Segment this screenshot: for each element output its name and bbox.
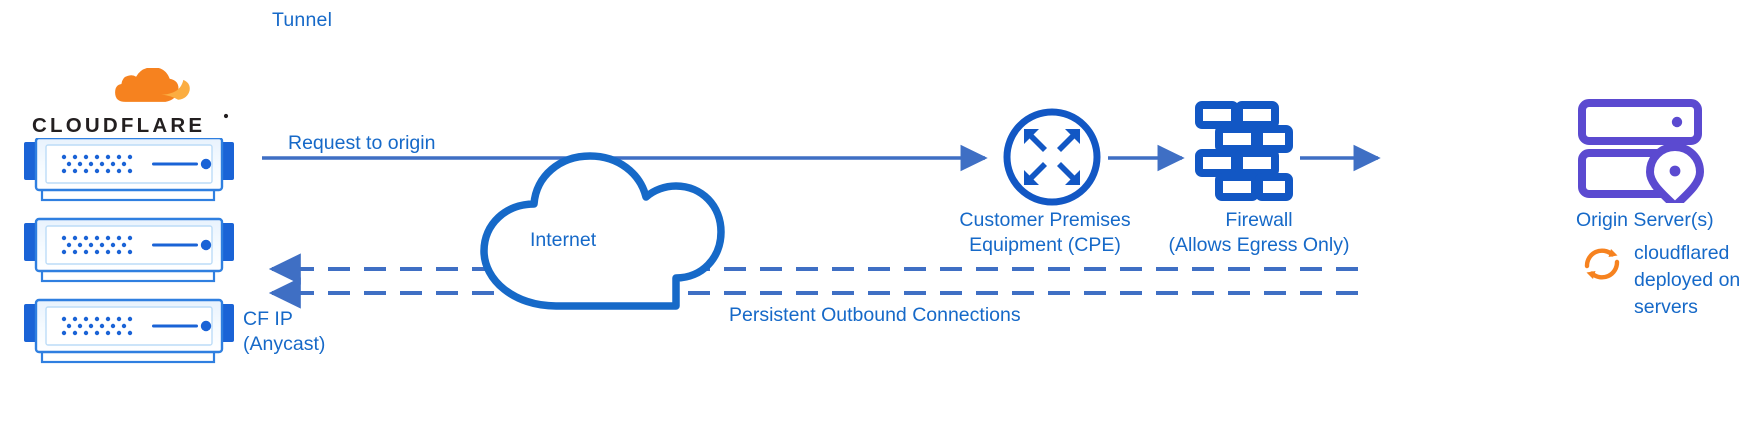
origin-server-label: Origin Server(s) [1576, 208, 1714, 233]
server-location-pin-icon [1578, 98, 1708, 203]
firewall-label: Firewall (Allows Egress Only) [1160, 208, 1358, 258]
cloudflared-note-line3: servers [1634, 294, 1754, 321]
cloudflared-note: cloudflared deployed on servers [1634, 240, 1754, 321]
internet-label: Internet [530, 228, 596, 253]
cpe-label: Customer Premises Equipment (CPE) [947, 208, 1143, 258]
cf-ip-anycast-label: CF IP (Anycast) [243, 307, 393, 357]
firewall-label-line1: Firewall [1160, 208, 1358, 233]
persistent-connections-label: Persistent Outbound Connections [729, 303, 1021, 328]
cf-ip-label-line1: CF IP [243, 307, 393, 332]
cloudflared-note-line2: deployed on [1634, 267, 1754, 294]
converging-arrows-icon [1000, 105, 1104, 209]
brick-wall-icon [1194, 100, 1294, 204]
cpe-label-line1: Customer Premises [947, 208, 1143, 233]
sync-arrows-icon [1578, 240, 1626, 288]
request-to-origin-label: Request to origin [288, 131, 435, 156]
cpe-label-line2: Equipment (CPE) [947, 233, 1143, 258]
cf-ip-label-line2: (Anycast) [243, 332, 393, 357]
connection-lines [0, 0, 1754, 422]
tunnel-diagram-canvas: Tunnel CLOUDFLARE [0, 0, 1754, 422]
firewall-label-line2: (Allows Egress Only) [1160, 233, 1358, 258]
cloudflared-note-line1: cloudflared [1634, 240, 1754, 267]
